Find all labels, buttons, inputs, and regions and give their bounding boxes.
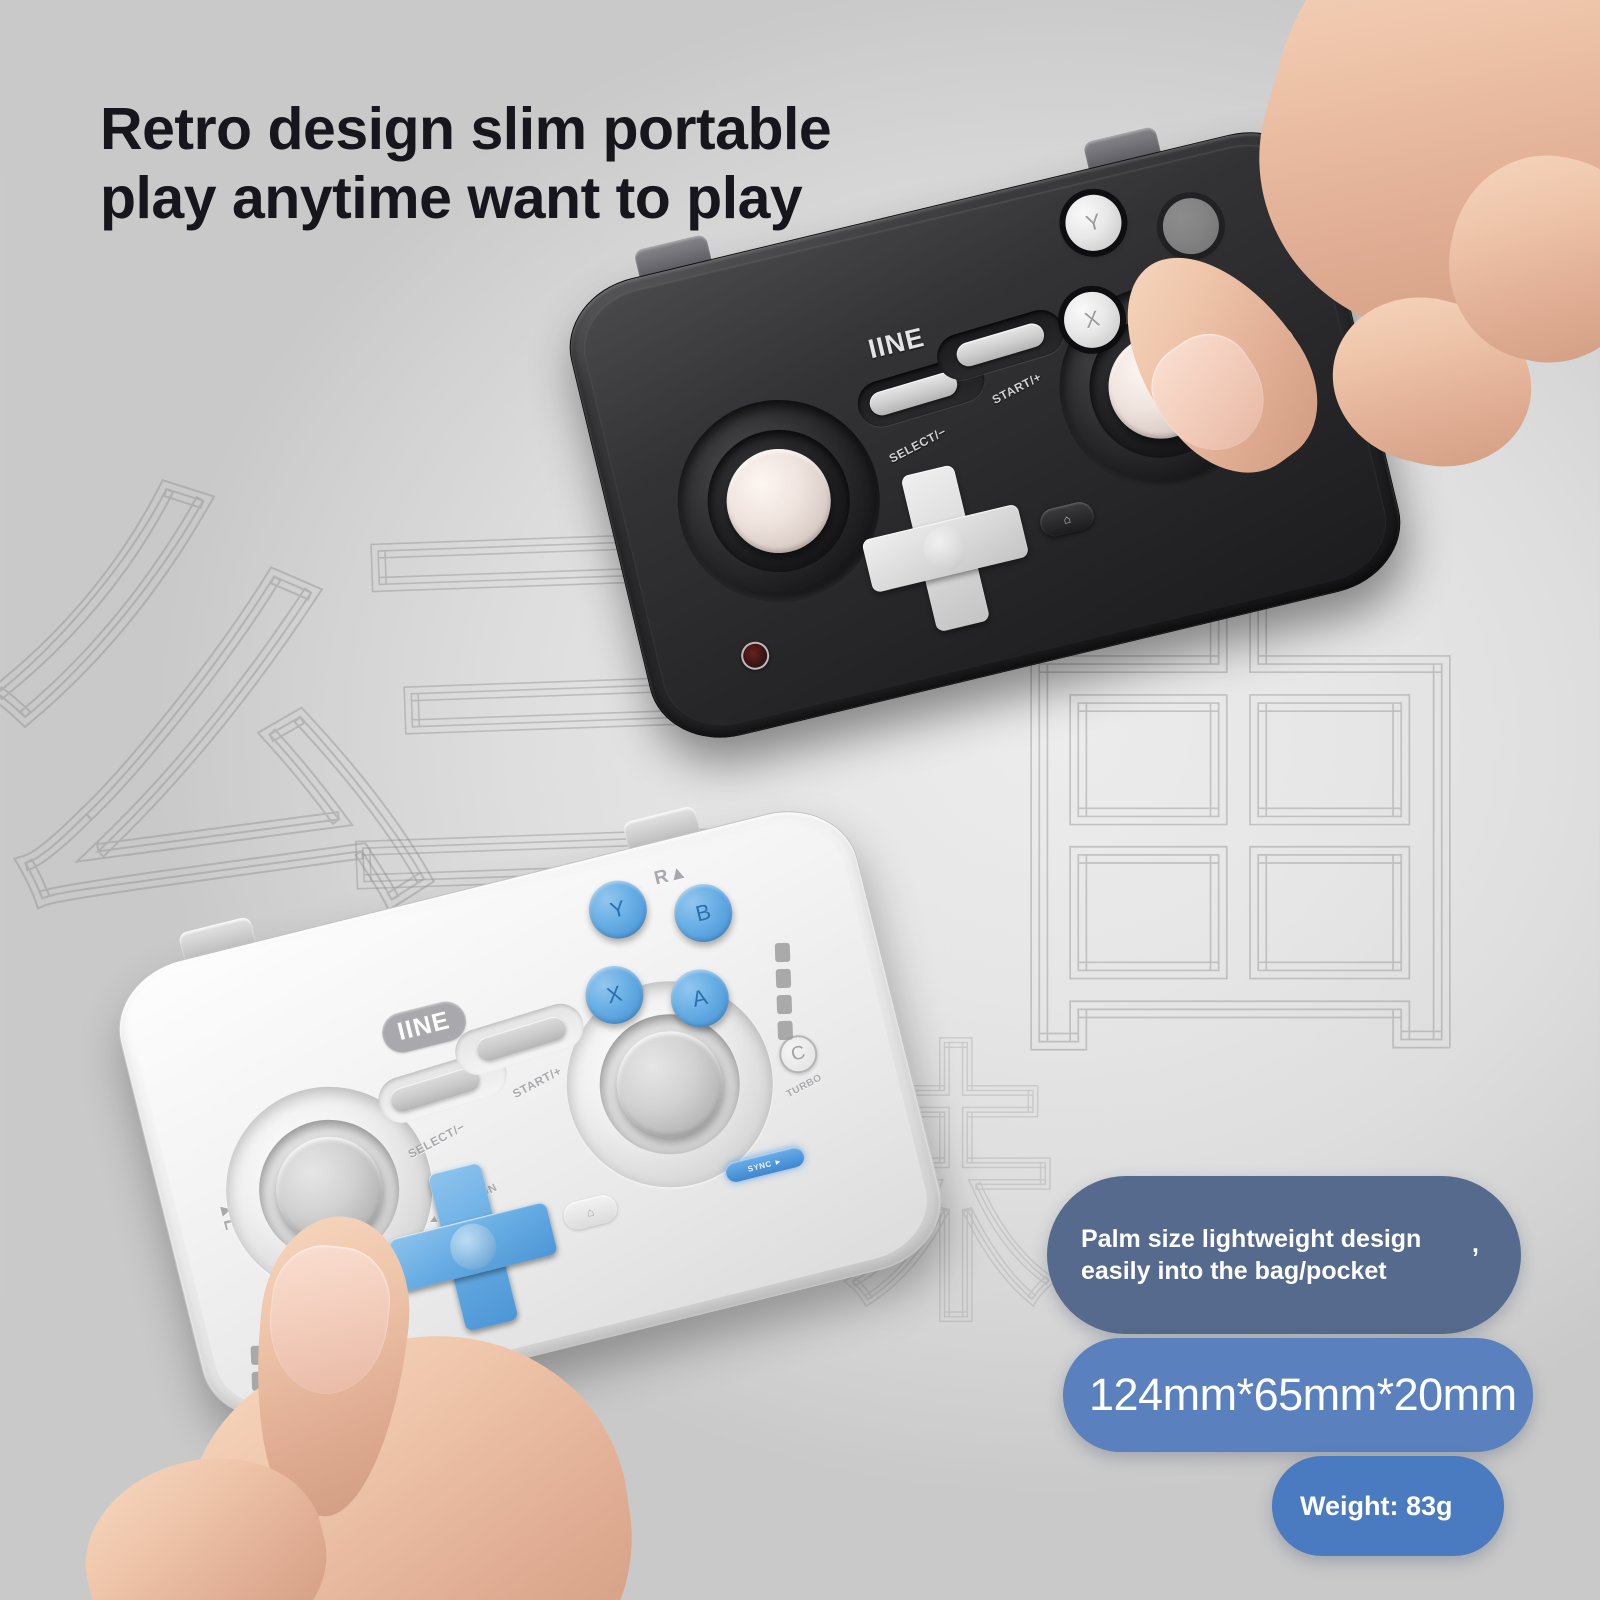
badge-palm-size-line2: easily into the bag/pocket	[1081, 1255, 1421, 1287]
gamepad-white-face	[121, 810, 939, 1420]
badge-palm-size-line1: Palm size lightweight design	[1081, 1223, 1421, 1255]
watermark-char-1: 么	[0, 468, 452, 962]
finger-lower-bottom	[65, 1434, 346, 1600]
badge-palm-size: Palm size lightweight design easily into…	[1047, 1176, 1521, 1334]
badge-palm-size-comma: ,	[1472, 1230, 1479, 1259]
gamepad-white: ▲L R▲ IINE SELECT/− START/+ ◄DIRECTION Y…	[104, 795, 955, 1435]
badge-dimensions: 124mm*65mm*20mm	[1063, 1338, 1533, 1452]
badge-palm-size-text: Palm size lightweight design easily into…	[1081, 1223, 1421, 1287]
badge-weight-text: Weight: 83g	[1300, 1491, 1453, 1522]
knuckle-top	[1431, 138, 1600, 380]
page-headline: Retro design slim portable play anytime …	[100, 95, 880, 233]
badge-dimensions-text: 124mm*65mm*20mm	[1089, 1369, 1517, 1421]
badge-weight: Weight: 83g	[1272, 1456, 1504, 1556]
